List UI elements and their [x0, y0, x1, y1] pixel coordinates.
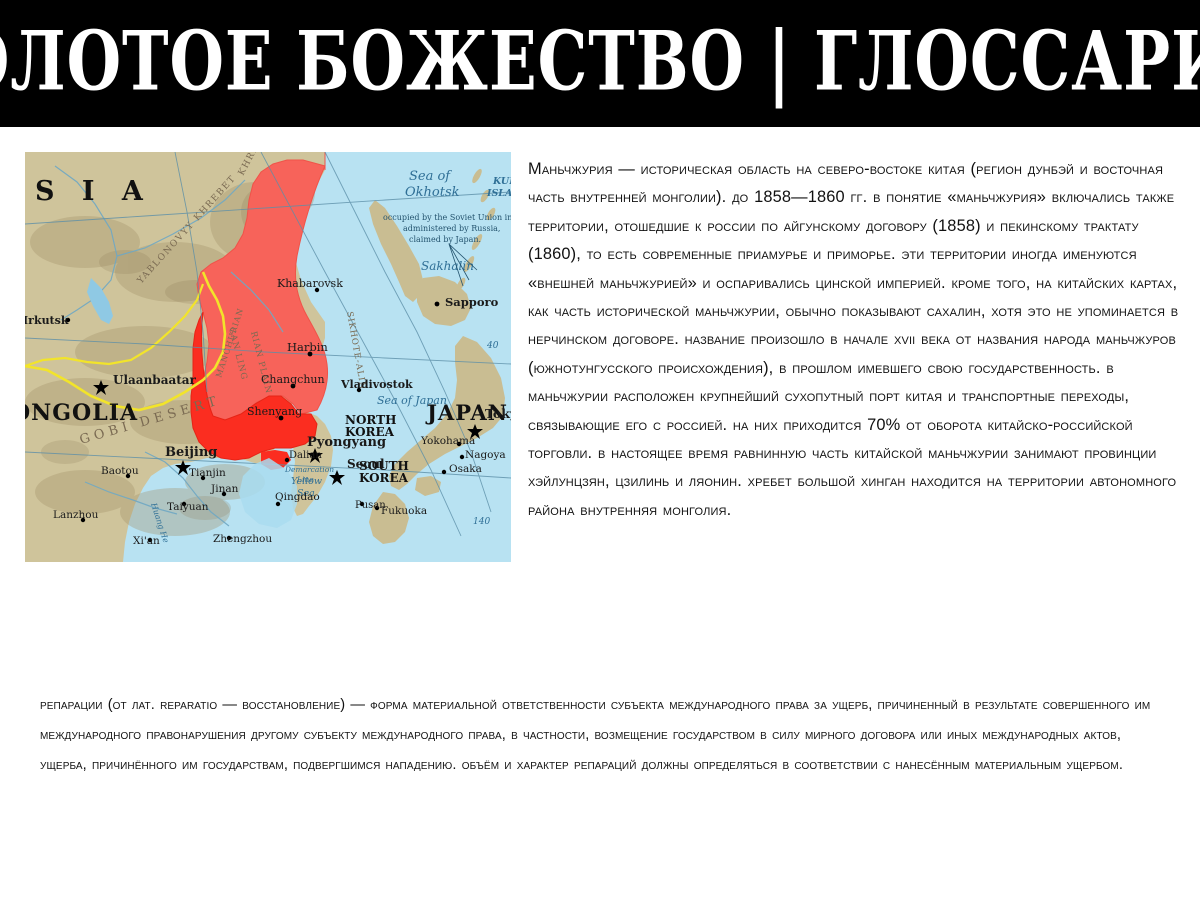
- map-graphic: S I A ONGOLIA JAPAN NORTH KOREA SOUTH KO…: [25, 152, 511, 562]
- map-city-sapporo: Sapporo: [445, 295, 499, 309]
- map-city-zhengzhou: Zhengzhou: [213, 533, 272, 545]
- map-label-sea-of-okhotsk: Sea of: [409, 169, 452, 184]
- map-city-lanzhou: Lanzhou: [53, 509, 99, 521]
- map-city-pyongyang: Pyongyang: [307, 435, 386, 450]
- map-label-kuril-islands-2: ISLANDS: [486, 188, 511, 199]
- map-city-vladivostok: Vladivostok: [340, 378, 413, 391]
- map-city-xian: Xi'an: [133, 535, 160, 547]
- map-city-qingdao: Qingdao: [275, 491, 320, 503]
- map-city-fukuoka: Fukuoka: [381, 505, 427, 517]
- svg-text:occupied by the Soviet Union i: occupied by the Soviet Union in 1945,: [383, 213, 511, 222]
- map-city-jinan: Jinan: [210, 483, 239, 495]
- svg-text:claimed by Japan.: claimed by Japan.: [409, 235, 481, 244]
- map-city-seoul: Seoul: [347, 457, 385, 471]
- map-city-beijing: Beijing: [165, 445, 217, 460]
- page-title: ЗОЛОТОЕ БОЖЕСТВО | ГЛОССАРИЙ: [48, 0, 1152, 127]
- map-label-sakhalin: Sakhalin: [421, 259, 474, 273]
- glossary-entry-manchuria: Маньчжурия — историческая область на сев…: [528, 155, 1190, 524]
- map-label-kuril-islands: KURIL: [492, 176, 511, 187]
- map-city-ulaanbaatar: Ulaanbaatar: [113, 373, 197, 387]
- header-band: ЗОЛОТОЕ БОЖЕСТВО | ГЛОССАРИЙ: [0, 0, 1200, 127]
- map-city-taiyuan: Taiyuan: [167, 501, 209, 513]
- map-label-russia: S I A: [35, 176, 152, 207]
- glossary-page: ЗОЛОТОЕ БОЖЕСТВО | ГЛОССАРИЙ: [0, 0, 1200, 900]
- map-city-tianjin: Tianjin: [189, 467, 226, 479]
- map-city-dalian: Dalian: [289, 450, 322, 461]
- map-city-baotou: Baotou: [101, 465, 139, 477]
- map-label-sea-of-japan: Sea of Japan: [377, 394, 447, 407]
- map-city-yokohama: Yokohama: [420, 435, 475, 447]
- glossary-entry-reparations: Репарации (от лат. reparatio — восстанов…: [40, 690, 1172, 780]
- map-label-demarcation-line: Demarcation: [284, 465, 334, 474]
- manchuria-map: S I A ONGOLIA JAPAN NORTH KOREA SOUTH KO…: [25, 152, 511, 562]
- map-city-shenyang: Shenyang: [247, 405, 302, 418]
- map-graticule-label-40: 40: [486, 341, 499, 351]
- svg-text:administered by Russia,: administered by Russia,: [403, 224, 500, 233]
- map-city-osaka: Osaka: [449, 463, 482, 475]
- map-city-tokyo: Tokyo: [485, 406, 511, 421]
- map-label-demarcation-line-2: Line: [296, 475, 314, 484]
- map-label-south-korea-2: KOREA: [359, 471, 409, 485]
- map-city-nagoya: Nagoya: [465, 449, 506, 461]
- map-city-harbin: Harbin: [287, 340, 328, 354]
- map-city-changchun: Changchun: [261, 373, 325, 386]
- map-city-khabarovsk: Khabarovsk: [277, 277, 343, 290]
- map-city-irkutsk: Irkutsk: [25, 314, 69, 327]
- map-graticule-label-140: 140: [473, 517, 490, 527]
- map-label-sea-of-okhotsk-2: Okhotsk: [405, 185, 460, 200]
